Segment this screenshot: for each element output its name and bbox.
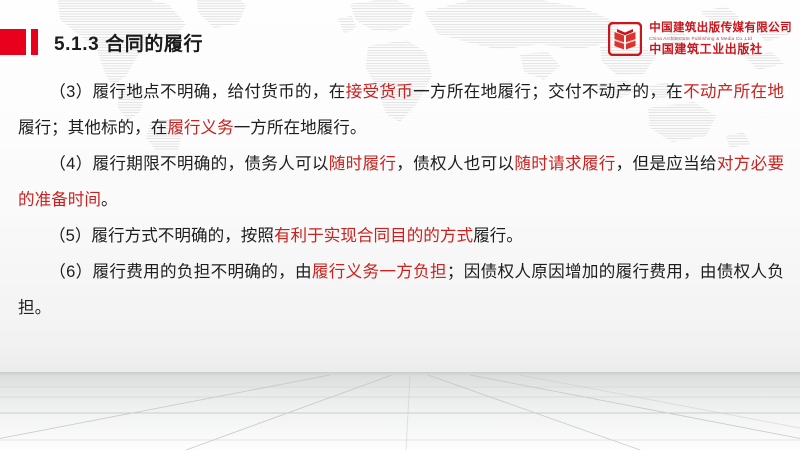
slide-body-text: （3）履行地点不明确，给付货币的，在接受货币一方所在地履行；交付不动产的，在不动… (18, 74, 784, 326)
highlighted-text-run: 不动产所在地 (683, 82, 784, 101)
content-paragraph: （4）履行期限不明确的，债务人可以随时履行，债权人也可以随时请求履行，但是应当给… (18, 146, 784, 218)
text-run: 履行方式不明确的，按照 (91, 226, 274, 245)
text-run: 履行。 (473, 226, 523, 245)
publisher-name-en: China Architecture Publishing & Media Co… (649, 36, 795, 43)
highlighted-text-run: 随时请求履行 (514, 154, 615, 173)
highlighted-text-run: 履行义务一方负担 (312, 262, 447, 281)
text-run: 履行费用的负担不明确的，由 (93, 262, 312, 281)
content-paragraph: （6）履行费用的负担不明确的，由履行义务一方负担；因债权人原因增加的履行费用，由… (18, 254, 784, 326)
content-paragraph: （3）履行地点不明确，给付货币的，在接受货币一方所在地履行；交付不动产的，在不动… (18, 74, 784, 146)
title-accent-bar-thin (31, 29, 38, 55)
publisher-logo-text: 中国建筑出版传媒有限公司 China Architecture Publishi… (649, 22, 792, 57)
text-run: ，但是应当给 (616, 154, 717, 173)
text-run: 履行地点不明确，给付货币的，在 (93, 82, 346, 101)
publisher-logo-icon (608, 22, 642, 56)
floor-perspective-grid (0, 372, 800, 450)
content-paragraph: （5）履行方式不明确的，按照有利于实现合同目的的方式履行。 (18, 218, 784, 254)
paragraph-marker: （3） (49, 82, 93, 101)
text-run: 履行；其他标的，在 (18, 118, 167, 137)
presentation-slide: 5.1.3 合同的履行 中国建筑出版传媒有限公司 China Architect… (0, 0, 800, 450)
text-run: 一方所在地履行。 (234, 118, 367, 137)
stage-floor (0, 372, 800, 450)
slide-title-row: 5.1.3 合同的履行 (0, 26, 203, 58)
paragraph-marker: （4） (49, 154, 93, 173)
highlighted-text-run: 有利于实现合同目的的方式 (274, 226, 473, 245)
text-run: 一方所在地履行；交付不动产的，在 (413, 82, 683, 101)
text-run: 履行期限不明确的，债务人可以 (93, 154, 329, 173)
page-title: 5.1.3 合同的履行 (54, 29, 203, 56)
highlighted-text-run: 履行义务 (167, 118, 233, 137)
publisher-name-cn: 中国建筑出版传媒有限公司 (649, 22, 792, 36)
paragraph-marker: （6） (49, 262, 93, 281)
publisher-logo: 中国建筑出版传媒有限公司 China Architecture Publishi… (608, 22, 792, 57)
publisher-imprint-cn: 中国建筑工业出版社 (649, 42, 792, 56)
text-run: ，债权人也可以 (396, 154, 514, 173)
highlighted-text-run: 随时履行 (329, 154, 397, 173)
paragraph-marker: （5） (49, 226, 91, 245)
text-run: 。 (101, 190, 118, 209)
title-accent-bar-wide (0, 29, 26, 55)
highlighted-text-run: 接受货币 (346, 82, 414, 101)
